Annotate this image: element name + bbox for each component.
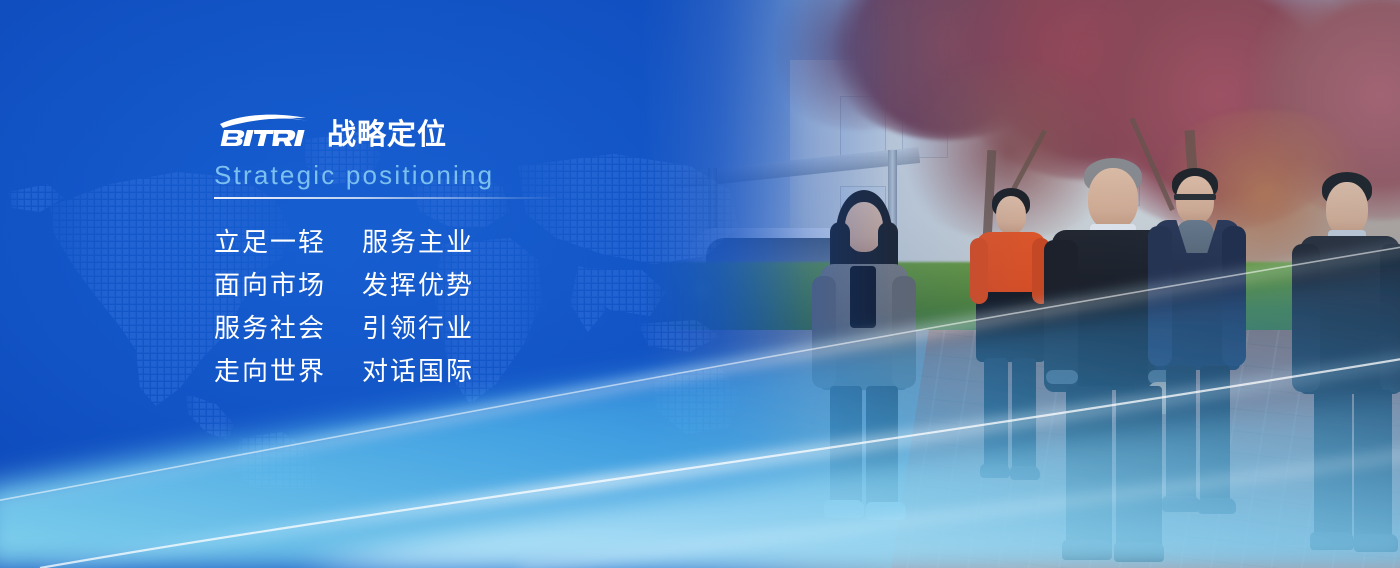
slogan-list: 立足一轻 服务主业 面向市场 发挥优势 服务社会 引领行业 走向世界 对话国际 xyxy=(214,221,634,393)
slogan-right: 发挥优势 xyxy=(362,264,474,307)
slogan-row: 立足一轻 服务主业 xyxy=(214,221,634,264)
title-divider xyxy=(214,197,559,199)
slogan-row: 面向市场 发挥优势 xyxy=(214,264,634,307)
slogan-right: 服务主业 xyxy=(362,221,474,264)
photo-blue-tint xyxy=(640,0,1400,568)
strategic-positioning-banner: 战略定位 Strategic positioning 立足一轻 服务主业 面向市… xyxy=(0,0,1400,568)
slogan-left: 立足一轻 xyxy=(214,221,362,264)
slogan-row: 走向世界 对话国际 xyxy=(214,350,634,393)
slogan-left: 服务社会 xyxy=(214,307,362,350)
slogan-right: 对话国际 xyxy=(362,350,474,393)
bitri-logo[interactable] xyxy=(214,112,314,152)
slogan-right: 引领行业 xyxy=(362,307,474,350)
page-title: 战略定位 xyxy=(327,120,447,152)
slogan-left: 走向世界 xyxy=(214,350,362,393)
slogan-left: 面向市场 xyxy=(214,264,362,307)
brand-title-row: 战略定位 xyxy=(214,108,634,152)
page-subtitle: Strategic positioning xyxy=(214,158,634,192)
banner-copy-block: 战略定位 Strategic positioning 立足一轻 服务主业 面向市… xyxy=(214,108,634,393)
group-of-people-walking-outdoors-photo xyxy=(640,0,1400,568)
slogan-row: 服务社会 引领行业 xyxy=(214,307,634,350)
